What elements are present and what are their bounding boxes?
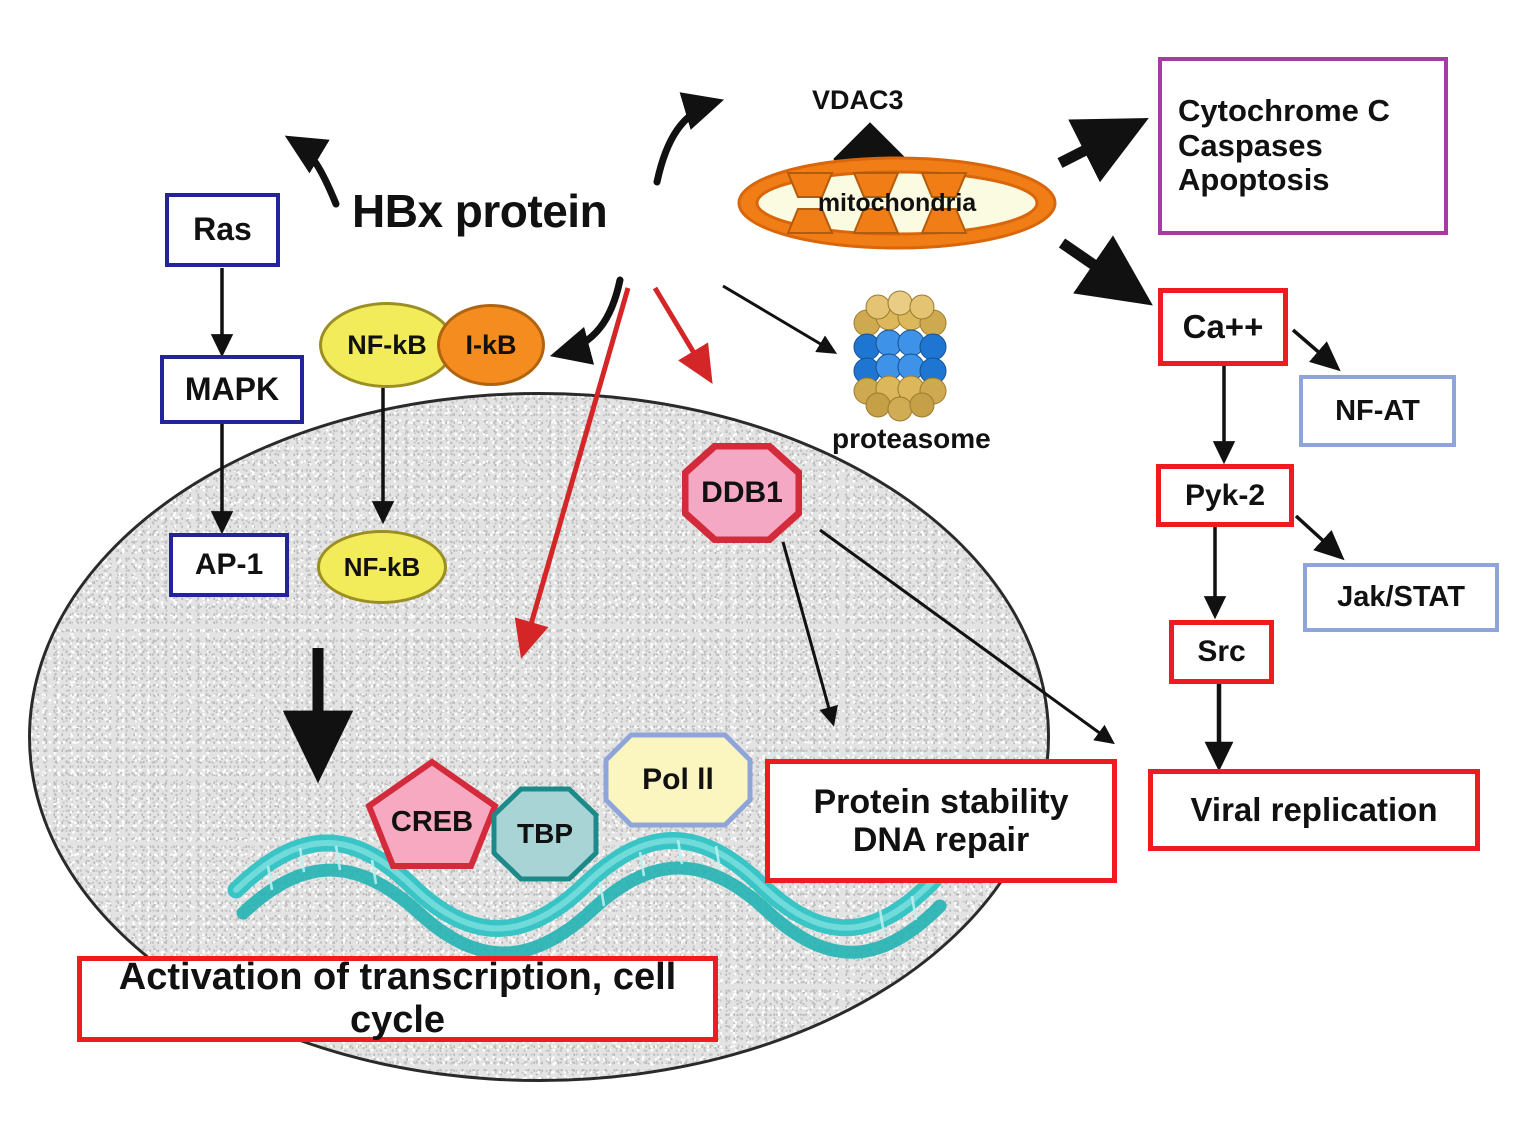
node-pol-ii-label: Pol ll <box>642 763 714 797</box>
vdac3-label: VDAC3 <box>812 85 904 116</box>
node-activation-transcription[interactable]: Activation of transcription, cell cycle <box>77 956 718 1042</box>
node-tbp-label: TBP <box>517 818 573 850</box>
node-cytochrome-c-apoptosis[interactable]: Cytochrome C Caspases Apoptosis <box>1158 57 1448 235</box>
node-viral-replication[interactable]: Viral replication <box>1148 769 1480 851</box>
node-ddb1-label: DDB1 <box>701 476 783 510</box>
node-tbp[interactable]: TBP <box>491 786 599 882</box>
node-nf-kb-nuclear[interactable]: NF-kB <box>317 530 447 604</box>
node-jak-stat[interactable]: Jak/STAT <box>1303 563 1499 632</box>
arrow-hbx-to-mitochondria <box>657 102 716 182</box>
node-creb[interactable]: CREB <box>365 758 499 870</box>
arrow-mito-to-apoptosis <box>1060 124 1137 163</box>
arrow-calcium-to-nfat <box>1293 330 1337 368</box>
proteasome-label: proteasome <box>832 423 991 455</box>
node-protein-stability-dna-repair[interactable]: Protein stability DNA repair <box>765 759 1117 883</box>
arrow-hbx-to-ras-pathway <box>292 140 336 204</box>
node-pyk2[interactable]: Pyk-2 <box>1156 464 1294 527</box>
node-src[interactable]: Src <box>1169 620 1274 684</box>
node-ras[interactable]: Ras <box>165 193 280 267</box>
arrow-pyk2-to-jakstat <box>1296 516 1341 557</box>
node-calcium[interactable]: Ca++ <box>1158 288 1288 366</box>
arrow-mito-to-calcium <box>1062 243 1142 298</box>
mitochondria-organelle: mitochondria <box>736 155 1058 251</box>
arrow-hbx-to-ddb1-red <box>655 288 709 378</box>
node-ddb1[interactable]: DDB1 <box>682 443 802 543</box>
arrow-ddb1-to-viral-replication <box>820 530 1112 742</box>
node-ap1[interactable]: AP-1 <box>169 533 289 597</box>
node-creb-label: CREB <box>391 806 473 839</box>
node-nf-kb-cytoplasmic[interactable]: NF-kB <box>319 302 455 388</box>
arrow-hbx-to-proteasome <box>723 286 834 352</box>
arrow-ddb1-to-protein-stability <box>783 542 833 723</box>
node-i-kb[interactable]: I-kB <box>437 304 545 386</box>
hbx-protein-label: HBx protein <box>352 184 607 238</box>
mitochondria-label: mitochondria <box>736 155 1058 251</box>
node-pol-ii[interactable]: Pol ll <box>603 732 753 828</box>
node-nf-at[interactable]: NF-AT <box>1299 375 1456 447</box>
pathway-diagram-canvas: HBx protein Ras MAPK AP-1 NF-kB I-kB NF-… <box>0 0 1536 1135</box>
node-mapk[interactable]: MAPK <box>160 355 304 424</box>
proteasome-organelle <box>845 285 957 425</box>
